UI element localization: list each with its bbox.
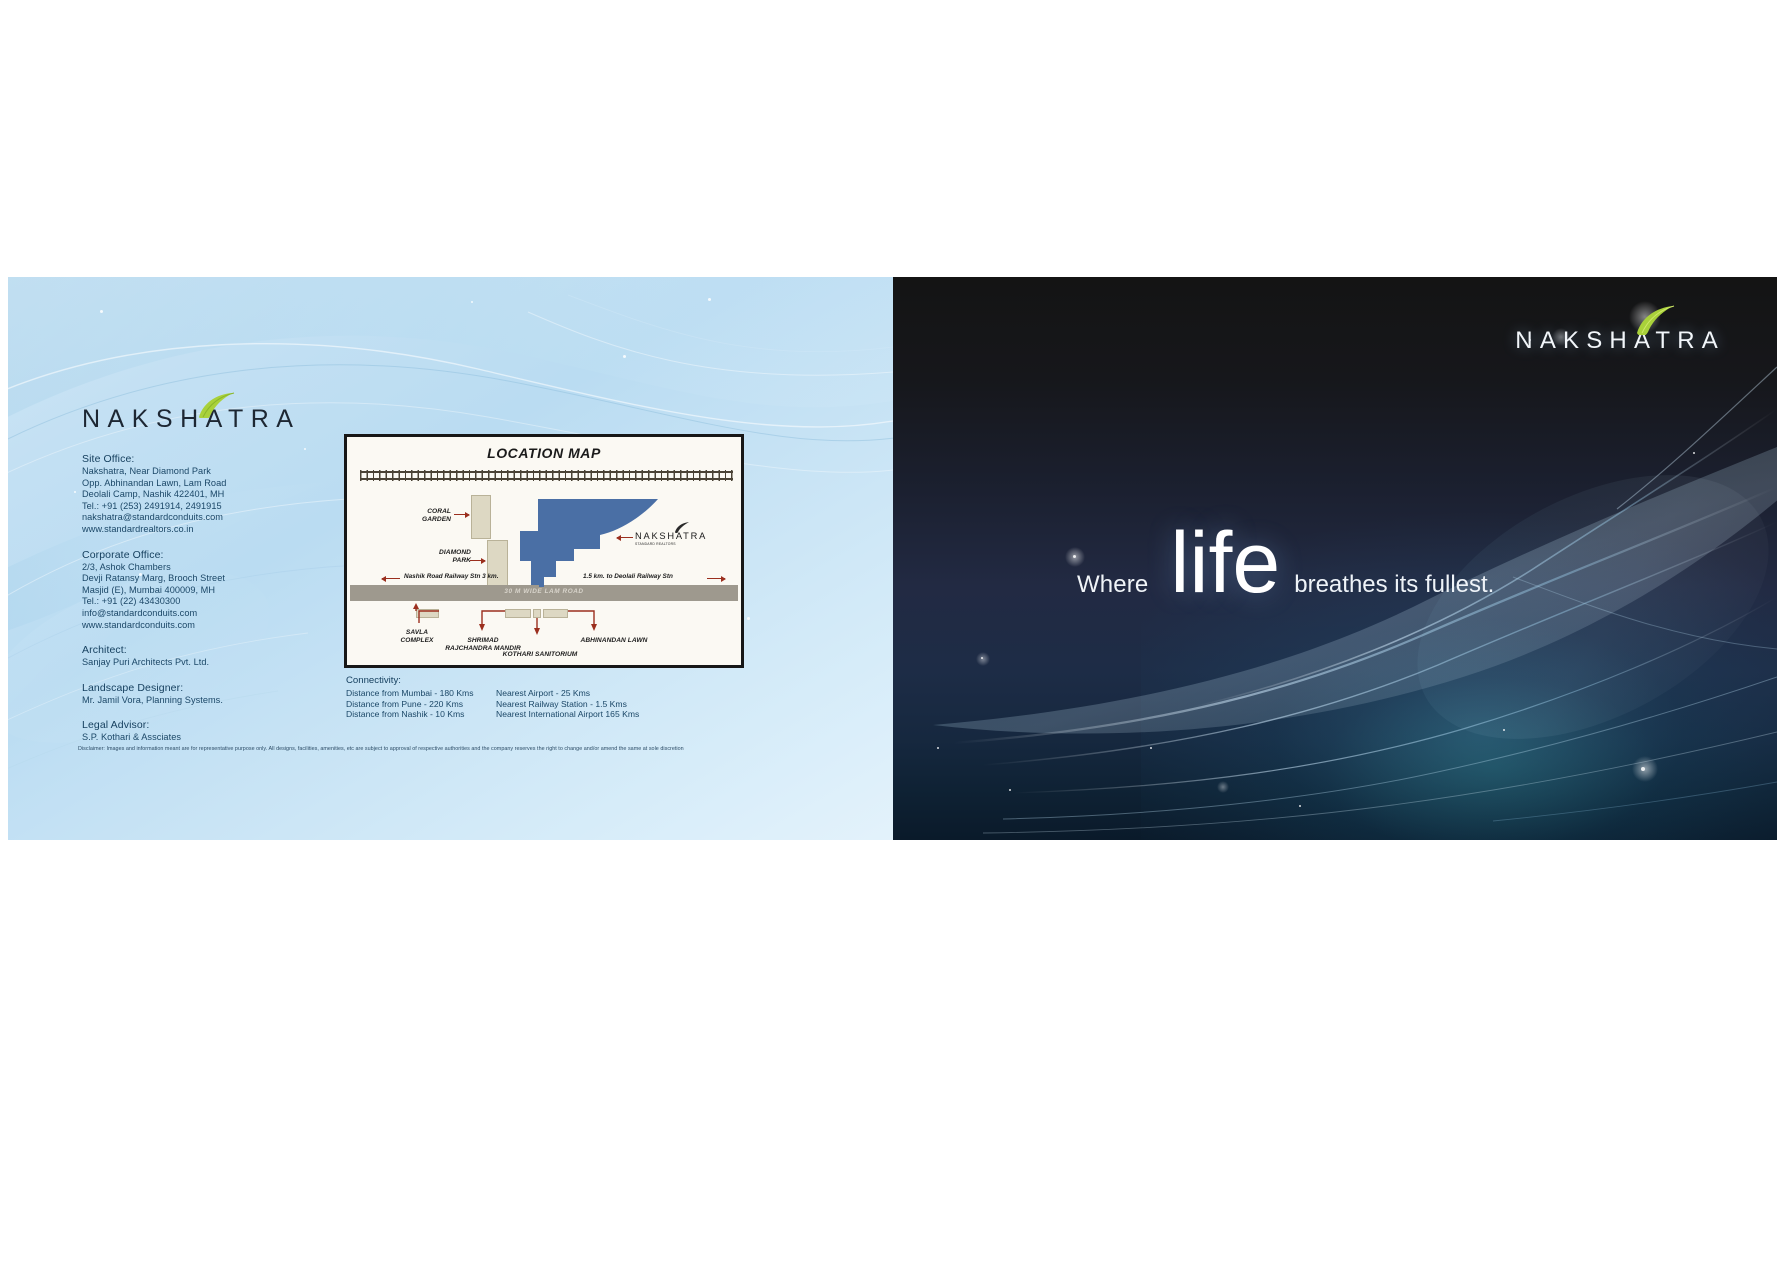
contact-block: Site Office: Nakshatra, Near Diamond Par… — [82, 453, 342, 744]
connectivity-column-distances: Distance from Mumbai - 180 Kms Distance … — [346, 688, 496, 720]
map-label-nakshatra: NAKSHATRA STANDARD REALTORS — [635, 531, 731, 546]
sparkle — [1299, 805, 1301, 807]
corporate-office-line: Masjid (E), Mumbai 400009, MH — [82, 585, 342, 597]
legal-advisor-name: S.P. Kothari & Assciates — [82, 732, 342, 744]
disclaimer-text: Disclaimer: Images and information meant… — [78, 746, 743, 754]
sparkle — [1503, 729, 1505, 731]
savla-line1: SAVLA — [406, 629, 428, 636]
right-page: NAKSHATRA Where life breathes its fulles… — [893, 277, 1777, 840]
arrow-diamond-park — [470, 560, 485, 561]
coral-garden-line2: GARDEN — [422, 516, 451, 523]
map-note-deolali-station: 1.5 km. to Deolali Railway Stn — [583, 573, 673, 580]
site-office-line: Nakshatra, Near Diamond Park — [82, 466, 342, 478]
brochure-spread: NAKSHATRA Site Office: Nakshatra, Near D… — [8, 277, 1777, 840]
corporate-office-line: Devji Ratansy Marg, Brooch Street — [82, 573, 342, 585]
connectivity-item: Distance from Pune - 220 Kms — [346, 699, 496, 710]
connectivity-block: Connectivity: Distance from Mumbai - 180… — [346, 675, 746, 720]
arrow-deolali-station — [707, 578, 725, 579]
map-label-diamond-park: DIAMOND PARK — [419, 549, 471, 565]
leaf-icon — [1631, 305, 1679, 335]
arrow-coral-garden — [454, 514, 469, 515]
tagline-keyword: life — [1170, 527, 1280, 600]
sparkle — [1693, 452, 1695, 454]
sparkle — [623, 355, 626, 358]
tagline-suffix: breathes its fullest. — [1294, 571, 1494, 599]
map-note-nashik-road-station: Nashik Road Railway Stn 3 km. — [404, 573, 498, 580]
site-office-phone: Tel.: +91 (253) 2491914, 2491915 — [82, 501, 342, 513]
sparkle — [471, 301, 473, 303]
brand-logo-right: NAKSHATRA — [1515, 327, 1725, 367]
tagline-prefix: Where — [1077, 571, 1148, 599]
left-page: NAKSHATRA Site Office: Nakshatra, Near D… — [8, 277, 893, 840]
diamond-park-line1: DIAMOND — [439, 549, 471, 556]
map-nakshatra-sublogo: STANDARD REALTORS — [635, 542, 731, 546]
sparkle — [981, 657, 983, 659]
plot-road-connector — [539, 565, 544, 587]
site-office-line: Opp. Abhinandan Lawn, Lam Road — [82, 478, 342, 490]
sparkle — [1073, 555, 1076, 558]
site-office-email[interactable]: nakshatra@standardconduits.com — [82, 512, 342, 524]
location-map: LOCATION MAP CORAL GARDEN — [344, 434, 744, 668]
map-label-abhinandan-lawn: ABHINANDAN LAWN — [571, 637, 657, 645]
connectivity-item: Distance from Mumbai - 180 Kms — [346, 688, 496, 699]
arrow-nakshatra — [617, 537, 633, 538]
corporate-office-email[interactable]: info@standardconduits.com — [82, 608, 342, 620]
corporate-office-line: 2/3, Ashok Chambers — [82, 562, 342, 574]
connectivity-item: Nearest Airport - 25 Kms — [496, 688, 639, 699]
connectivity-column-nearest: Nearest Airport - 25 Kms Nearest Railway… — [496, 688, 639, 720]
legal-advisor-heading: Legal Advisor: — [82, 719, 342, 731]
sparkle — [937, 747, 939, 749]
architect-heading: Architect: — [82, 644, 342, 656]
connectivity-item: Nearest Railway Station - 1.5 Kms — [496, 699, 639, 710]
connectivity-item: Nearest International Airport 165 Kms — [496, 709, 639, 720]
arrow-nashik-road-station — [382, 578, 400, 579]
site-office-heading: Site Office: — [82, 453, 342, 465]
corporate-office-website[interactable]: www.standardconduits.com — [82, 620, 342, 632]
architect-name: Sanjay Puri Architects Pvt. Ltd. — [82, 657, 342, 669]
shrimad-line1: SHRIMAD — [467, 637, 498, 644]
location-map-title: LOCATION MAP — [347, 445, 741, 461]
landscape-designer-heading: Landscape Designer: — [82, 682, 342, 694]
savla-line2: COMPLEX — [400, 637, 433, 644]
connectivity-heading: Connectivity: — [346, 675, 746, 686]
road-label: 30 M WIDE LAM ROAD — [350, 588, 738, 595]
tagline: Where life breathes its fullest. — [1077, 527, 1697, 600]
railway-line — [360, 470, 733, 481]
corporate-office-heading: Corporate Office: — [82, 549, 342, 561]
connectivity-item: Distance from Nashik - 10 Kms — [346, 709, 496, 720]
sparkle — [74, 491, 76, 493]
coral-garden-line1: CORAL — [427, 508, 451, 515]
sparkle — [708, 298, 711, 301]
leaf-icon — [193, 392, 239, 418]
brand-logo-left: NAKSHATRA — [82, 405, 342, 451]
sparkle — [1009, 789, 1011, 791]
sparkle — [747, 617, 750, 620]
map-label-coral-garden: CORAL GARDEN — [405, 508, 451, 524]
site-office-line: Deolali Camp, Nashik 422401, MH — [82, 489, 342, 501]
leaf-icon — [673, 522, 691, 533]
site-office-website[interactable]: www.standardrealtors.co.in — [82, 524, 342, 536]
corporate-office-phone: Tel.: +91 (22) 43430300 — [82, 596, 342, 608]
diamond-park-line2: PARK — [453, 557, 471, 564]
map-label-kothari-sanitorium: KOTHARI SANITORIUM — [501, 651, 579, 659]
sparkle — [1150, 747, 1152, 749]
brand-wordmark: NAKSHATRA — [1515, 327, 1725, 355]
sparkle — [100, 310, 103, 313]
building-coral-garden — [471, 495, 491, 539]
landscape-designer-name: Mr. Jamil Vora, Planning Systems. — [82, 695, 342, 707]
sparkle — [1641, 767, 1645, 771]
